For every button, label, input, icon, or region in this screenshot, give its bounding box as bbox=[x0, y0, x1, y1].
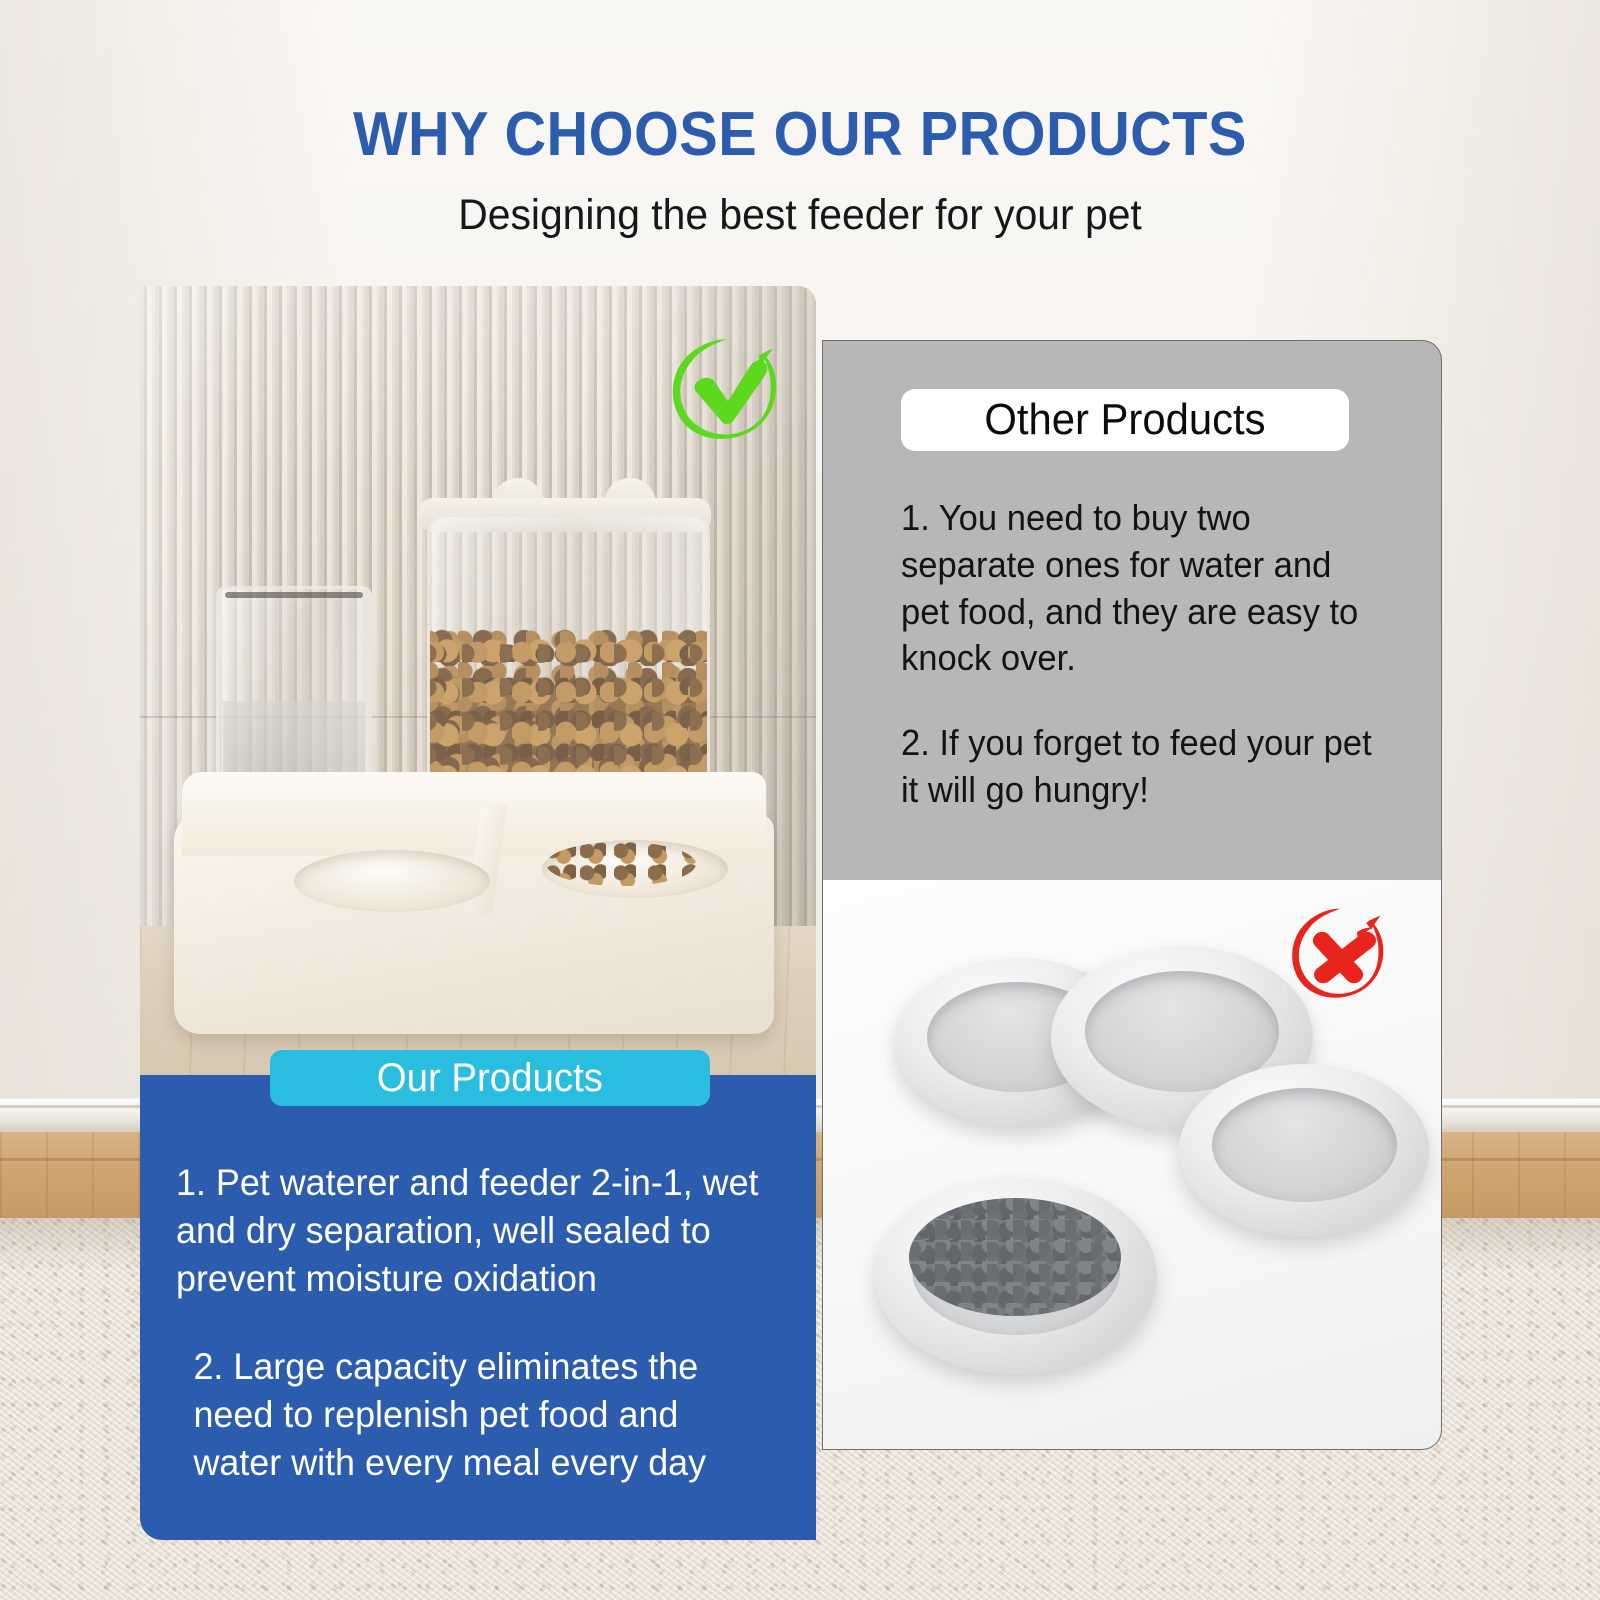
other-products-point-1: 1. You need to buy two separate ones for… bbox=[901, 495, 1381, 682]
kibble-in-plain-bowl bbox=[909, 1198, 1121, 1316]
our-products-point-2: 2. Large capacity eliminates the need to… bbox=[176, 1343, 770, 1487]
other-products-badge-label: Other Products bbox=[984, 398, 1265, 442]
our-products-text: 1. Pet waterer and feeder 2-in-1, wet an… bbox=[176, 1159, 788, 1528]
our-products-badge: Our Products bbox=[270, 1050, 710, 1106]
other-products-panel: Other Products 1. You need to buy two se… bbox=[822, 340, 1442, 880]
our-product-photo bbox=[140, 286, 816, 1086]
feeder-base bbox=[174, 814, 774, 1034]
red-cross-circle-icon bbox=[1279, 898, 1397, 1016]
other-products-badge: Other Products bbox=[901, 389, 1349, 451]
our-products-badge-label: Our Products bbox=[377, 1058, 603, 1098]
water-bowl bbox=[294, 850, 490, 912]
our-products-panel: Our Products 1. Pet waterer and feeder 2… bbox=[140, 1075, 816, 1540]
automatic-feeder-product bbox=[174, 514, 774, 1034]
other-product-photo bbox=[822, 880, 1442, 1450]
our-products-column: Our Products 1. Pet waterer and feeder 2… bbox=[140, 286, 816, 1540]
header: WHY CHOOSE OUR PRODUCTS Designing the be… bbox=[0, 0, 1600, 237]
green-check-circle-icon bbox=[658, 326, 790, 458]
our-products-point-1: 1. Pet waterer and feeder 2-in-1, wet an… bbox=[176, 1159, 770, 1303]
page-title: WHY CHOOSE OUR PRODUCTS bbox=[56, 0, 1544, 166]
kibble-in-food-bowl bbox=[546, 842, 696, 886]
page-subtitle: Designing the best feeder for your pet bbox=[40, 166, 1560, 237]
other-products-text: 1. You need to buy two separate ones for… bbox=[901, 495, 1401, 852]
other-products-point-2: 2. If you forget to feed your pet it wil… bbox=[901, 720, 1381, 814]
infographic-canvas: WHY CHOOSE OUR PRODUCTS Designing the be… bbox=[0, 0, 1600, 1600]
other-products-column: Other Products 1. You need to buy two se… bbox=[822, 340, 1442, 1450]
plain-bowl-right bbox=[1179, 1064, 1429, 1236]
